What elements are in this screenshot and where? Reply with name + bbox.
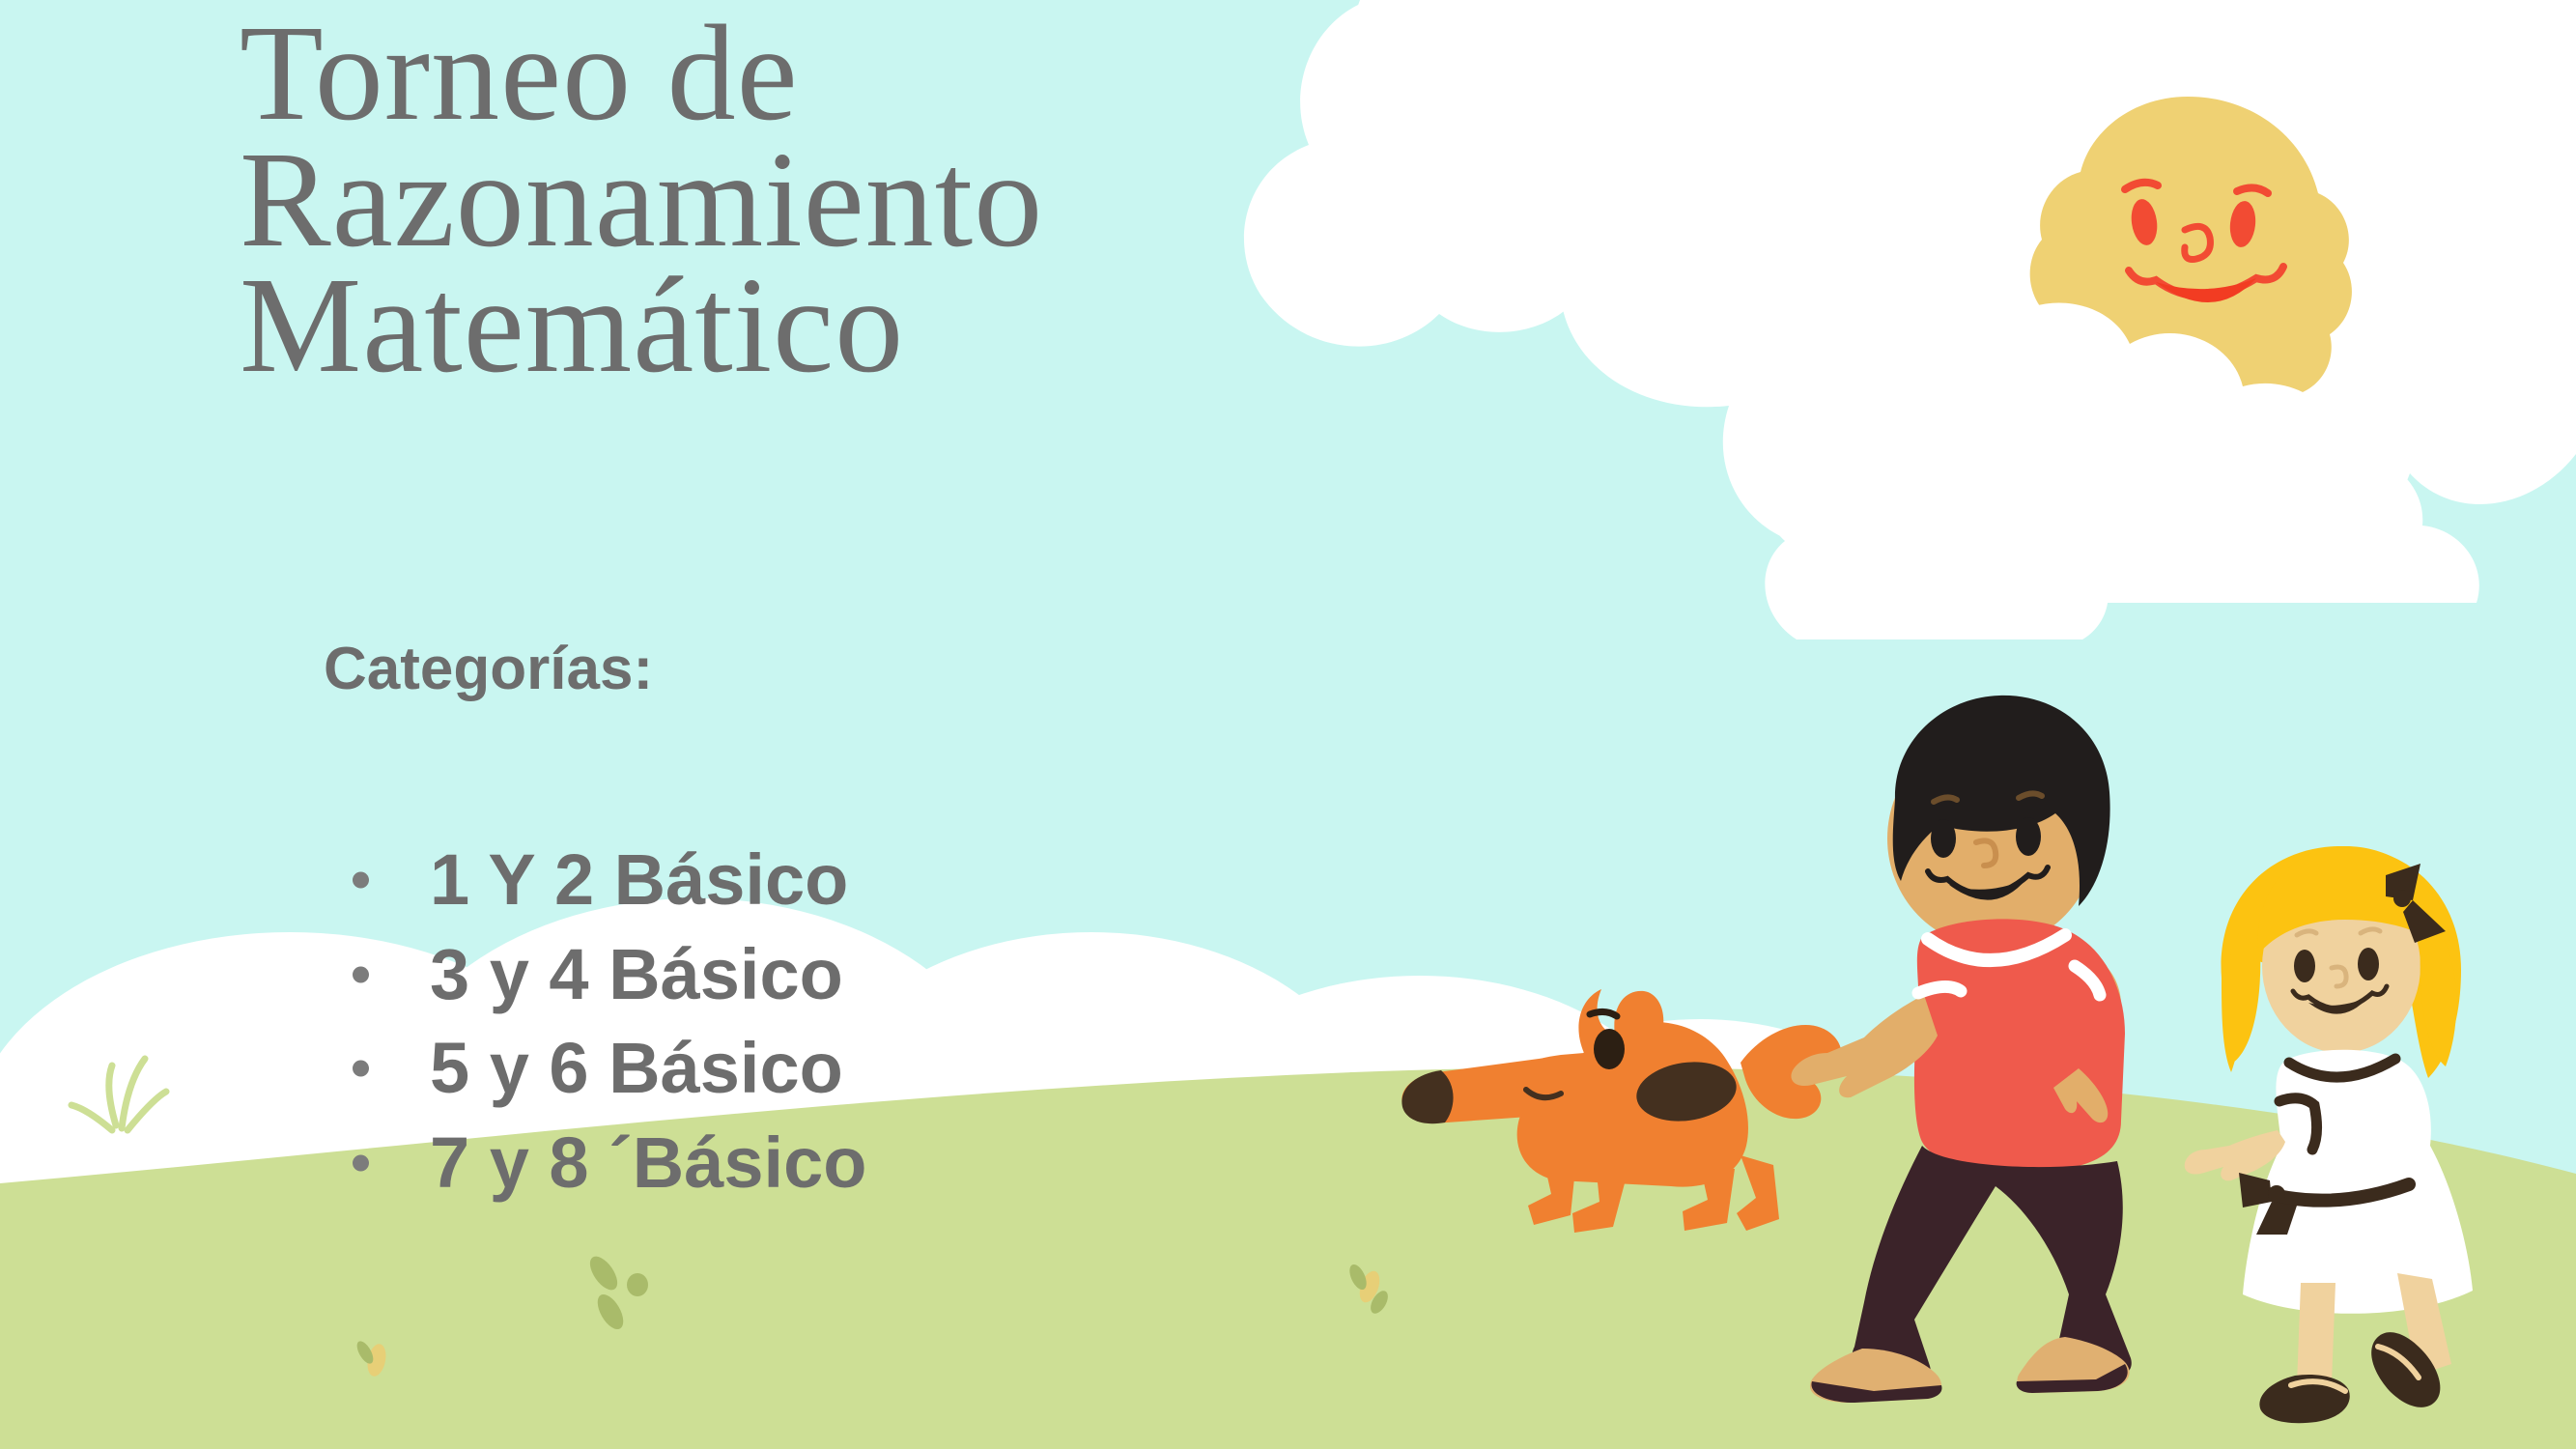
bullet-icon [353,966,369,982]
categories-list: 1 Y 2 Básico 3 y 4 Básico 5 y 6 Básico 7… [324,833,1289,1210]
list-item-label: 7 y 8 ´Básico [430,1122,866,1203]
bullet-icon [353,1061,369,1077]
categories-section: Categorías: 1 Y 2 Básico 3 y 4 Básico 5 … [324,639,1386,699]
bullet-icon [353,1154,369,1171]
categories-heading: Categorías: [324,639,1386,699]
list-item: 1 Y 2 Básico [324,833,1289,927]
title-line-1: Torneo de [240,10,1399,136]
list-item-label: 1 Y 2 Básico [430,839,848,920]
list-item-label: 3 y 4 Básico [430,934,843,1014]
list-item: 5 y 6 Básico [324,1021,1289,1116]
page-title: Torneo de Razonamiento Matemático [240,10,1399,388]
presentation-slide: Torneo de Razonamiento Matemático Catego… [0,0,2576,1449]
slide-text-layer: Torneo de Razonamiento Matemático Catego… [0,0,2576,1449]
list-item: 3 y 4 Básico [324,927,1289,1022]
list-item: 7 y 8 ´Básico [324,1116,1289,1210]
title-line-3: Matemático [240,262,1399,388]
title-line-2: Razonamiento [240,136,1399,263]
list-item-label: 5 y 6 Básico [430,1028,843,1108]
bullet-icon [353,871,369,888]
